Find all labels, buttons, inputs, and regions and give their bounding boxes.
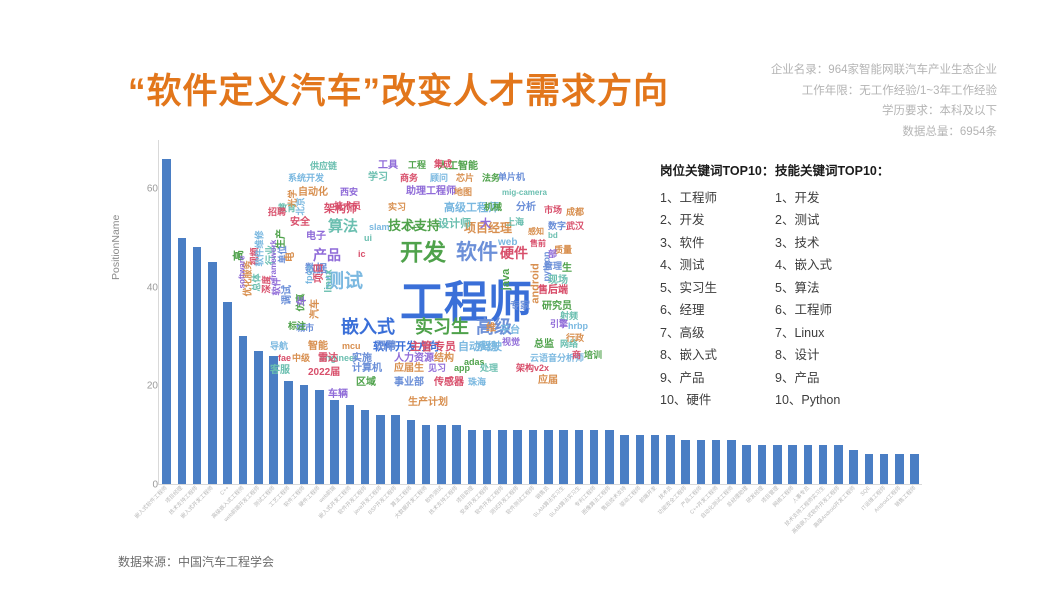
bar[interactable] (865, 454, 874, 484)
bar[interactable] (208, 262, 217, 484)
bar[interactable] (620, 435, 629, 484)
bar[interactable] (529, 430, 538, 484)
bar-cell[interactable] (296, 140, 311, 484)
top10-position-item: 3、软件 (660, 232, 774, 255)
bar[interactable] (605, 430, 614, 484)
bar[interactable] (223, 302, 232, 484)
top10-skill-item: 10、Python (775, 389, 889, 412)
bar-cell[interactable] (434, 140, 449, 484)
bar[interactable] (834, 445, 843, 484)
bar[interactable] (758, 445, 767, 484)
bar[interactable] (361, 410, 370, 484)
bar-cell[interactable] (312, 140, 327, 484)
bar-cell[interactable] (632, 140, 647, 484)
bar[interactable] (498, 430, 507, 484)
bar-cell[interactable] (357, 140, 372, 484)
bar-cell[interactable] (617, 140, 632, 484)
bar[interactable] (407, 420, 416, 484)
bar[interactable] (513, 430, 522, 484)
bar-cell[interactable] (235, 140, 250, 484)
bar-cell[interactable] (495, 140, 510, 484)
bar-cell[interactable] (159, 140, 174, 484)
y-axis-label: PositionName (110, 215, 122, 280)
bar[interactable] (636, 435, 645, 484)
y-tick-0: 0 (118, 480, 158, 491)
meta-line-company-count: 企业名录：964家智能网联汽车产业生态企业 (771, 60, 997, 81)
infographic-page: “软件定义汽车”改变人才需求方向 企业名录：964家智能网联汽车产业生态企业 工… (0, 0, 1047, 589)
bar[interactable] (697, 440, 706, 484)
bar[interactable] (346, 405, 355, 484)
top10-skill-keywords: 技能关键词TOP10： 1、开发2、测试3、技术4、嵌入式5、算法6、工程师7、… (775, 160, 889, 412)
bar[interactable] (391, 415, 400, 484)
bar[interactable] (651, 435, 660, 484)
page-title: “软件定义汽车”改变人才需求方向 (128, 63, 669, 114)
top10-skill-item: 8、设计 (775, 344, 889, 367)
bar[interactable] (804, 445, 813, 484)
x-axis-tick-label: C++ (220, 486, 231, 497)
meta-line-total: 数据总量：6954条 (771, 122, 997, 143)
bar[interactable] (162, 159, 171, 484)
bar-cell[interactable] (190, 140, 205, 484)
data-source-footer: 数据来源：中国汽车工程学会 (118, 553, 274, 570)
bar[interactable] (178, 238, 187, 484)
bar-cell[interactable] (342, 140, 357, 484)
bar[interactable] (315, 390, 324, 484)
top10-position-item: 2、开发 (660, 209, 774, 232)
bar-cell[interactable] (281, 140, 296, 484)
top10-position-item: 8、嵌入式 (660, 344, 774, 367)
bar[interactable] (788, 445, 797, 484)
top10-position-keywords: 岗位关键词TOP10： 1、工程师2、开发3、软件4、测试5、实习生6、经理7、… (660, 160, 774, 412)
bar[interactable] (910, 454, 919, 484)
bar[interactable] (239, 336, 248, 484)
bar[interactable] (895, 454, 904, 484)
bar-cell[interactable] (251, 140, 266, 484)
x-axis-labels: 嵌入式软件工程师项目经理技术支持工程师嵌入式开发工程师C++高级嵌入式工程师we… (158, 486, 922, 596)
meta-line-education: 学历要求：本科及以下 (771, 101, 997, 122)
top10-position-item: 1、工程师 (660, 187, 774, 210)
top10-skill-item: 3、技术 (775, 232, 889, 255)
bar-cell[interactable] (403, 140, 418, 484)
bar-cell[interactable] (373, 140, 388, 484)
top10-skill-item: 4、嵌入式 (775, 254, 889, 277)
bar-cell[interactable] (525, 140, 540, 484)
bar[interactable] (483, 430, 492, 484)
bar[interactable] (559, 430, 568, 484)
top10-position-item: 7、高级 (660, 322, 774, 345)
bar-cell[interactable] (510, 140, 525, 484)
top10-skill-list: 1、开发2、测试3、技术4、嵌入式5、算法6、工程师7、Linux8、设计9、产… (775, 187, 889, 412)
bar[interactable] (437, 425, 446, 484)
top10-skill-heading: 技能关键词TOP10： (775, 160, 889, 183)
bar[interactable] (681, 440, 690, 484)
y-tick-60: 60 (118, 184, 158, 195)
top10-skill-item: 5、算法 (775, 277, 889, 300)
bar-cell[interactable] (586, 140, 601, 484)
bar[interactable] (544, 430, 553, 484)
meta-summary: 企业名录：964家智能网联汽车产业生态企业 工作年限：无工作经验/1~3年工作经… (771, 60, 997, 142)
bar[interactable] (666, 435, 675, 484)
bar-cell[interactable] (892, 140, 907, 484)
bar-cell[interactable] (174, 140, 189, 484)
bar-cell[interactable] (541, 140, 556, 484)
top10-position-item: 10、硬件 (660, 389, 774, 412)
bar[interactable] (376, 415, 385, 484)
bar[interactable] (742, 445, 751, 484)
bar-cell[interactable] (907, 140, 922, 484)
top10-skill-item: 7、Linux (775, 322, 889, 345)
bar-cell[interactable] (419, 140, 434, 484)
top10-position-list: 1、工程师2、开发3、软件4、测试5、实习生6、经理7、高级8、嵌入式9、产品1… (660, 187, 774, 412)
bar[interactable] (712, 440, 721, 484)
meta-line-experience: 工作年限：无工作经验/1~3年工作经验 (771, 81, 997, 102)
bar[interactable] (330, 400, 339, 484)
top10-position-item: 5、实习生 (660, 277, 774, 300)
bar-cell[interactable] (602, 140, 617, 484)
bar-cell[interactable] (220, 140, 235, 484)
bar-cell[interactable] (205, 140, 220, 484)
bar-cell[interactable] (464, 140, 479, 484)
bar-cell[interactable] (388, 140, 403, 484)
bar[interactable] (819, 445, 828, 484)
top10-position-item: 6、经理 (660, 299, 774, 322)
bar[interactable] (727, 440, 736, 484)
bar[interactable] (590, 430, 599, 484)
bar-cell[interactable] (327, 140, 342, 484)
bar[interactable] (269, 356, 278, 484)
bar[interactable] (422, 425, 431, 484)
x-axis-tick-label: 嵌入式软件工程师 (135, 486, 169, 520)
top10-position-item: 9、产品 (660, 367, 774, 390)
bar-cell[interactable] (449, 140, 464, 484)
bar-cell[interactable] (480, 140, 495, 484)
bar[interactable] (468, 430, 477, 484)
top10-skill-item: 9、产品 (775, 367, 889, 390)
bar[interactable] (193, 247, 202, 484)
bar[interactable] (773, 445, 782, 484)
top10-position-item: 4、测试 (660, 254, 774, 277)
bar[interactable] (300, 385, 309, 484)
top10-skill-item: 1、开发 (775, 187, 889, 210)
bar[interactable] (849, 450, 858, 485)
y-tick-40: 40 (118, 282, 158, 293)
bar[interactable] (880, 454, 889, 484)
top10-skill-item: 6、工程师 (775, 299, 889, 322)
bar-cell[interactable] (266, 140, 281, 484)
bar[interactable] (452, 425, 461, 484)
bar[interactable] (254, 351, 263, 484)
bar[interactable] (575, 430, 584, 484)
top10-skill-item: 2、测试 (775, 209, 889, 232)
y-tick-20: 20 (118, 381, 158, 392)
top10-position-heading: 岗位关键词TOP10： (660, 160, 774, 183)
bar-cell[interactable] (556, 140, 571, 484)
bar[interactable] (284, 381, 293, 485)
bar-cell[interactable] (571, 140, 586, 484)
